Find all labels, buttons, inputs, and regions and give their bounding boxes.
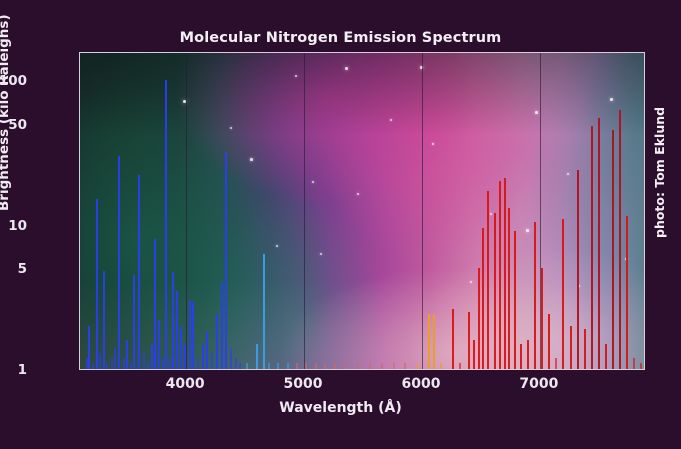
spectral-line	[562, 219, 564, 369]
spectral-line	[169, 358, 171, 369]
star	[250, 158, 253, 161]
spectral-line	[230, 348, 232, 369]
spectral-line	[416, 363, 418, 369]
gridline-x-5000	[304, 53, 305, 369]
star	[312, 181, 314, 183]
spectral-line	[452, 309, 454, 369]
spectral-line	[334, 363, 336, 369]
spectral-line	[296, 363, 298, 369]
spectral-line	[133, 275, 135, 369]
spectral-line	[96, 199, 98, 369]
spectral-line	[189, 300, 191, 369]
y-tick-70	[79, 105, 80, 107]
x-tick-5000	[304, 369, 306, 370]
star	[470, 281, 472, 283]
spectral-line	[151, 344, 153, 369]
y-tick-100	[79, 82, 80, 84]
spectral-line	[287, 363, 289, 369]
x-tick-6000	[422, 369, 424, 370]
y-tick-right-20	[644, 183, 645, 185]
spectral-line	[92, 363, 94, 369]
star	[230, 127, 232, 129]
spectral-line	[487, 191, 489, 369]
y-tick-3	[79, 302, 80, 304]
spectral-line	[393, 363, 395, 369]
spectral-line	[570, 326, 572, 369]
x-tick-label-5000: 5000	[284, 376, 323, 392]
spectral-line	[239, 363, 241, 369]
x-tick-label-7000: 7000	[519, 376, 558, 392]
y-tick-90	[79, 89, 80, 91]
spectral-line	[548, 314, 550, 369]
spectral-line	[158, 320, 160, 369]
y-tick-10	[79, 227, 80, 229]
y-tick-right-10	[644, 227, 645, 229]
y-tick-20	[79, 183, 80, 185]
spectral-line	[88, 326, 90, 369]
spectral-line	[473, 340, 475, 369]
star	[490, 213, 492, 215]
y-tick-right-100	[644, 82, 645, 84]
spectral-line	[345, 363, 347, 369]
y-tick-right-80	[644, 96, 645, 98]
y-tick-80	[79, 96, 80, 98]
spectral-line	[216, 314, 218, 369]
star	[610, 98, 613, 101]
spectral-line	[619, 110, 621, 369]
chart-screenshot: Molecular Nitrogen Emission Spectrum Bri…	[0, 0, 681, 449]
spectral-line	[381, 363, 383, 369]
spectral-line	[277, 363, 279, 369]
spectral-line	[162, 358, 164, 369]
x-tick-4000	[186, 369, 188, 370]
spectral-line	[206, 332, 208, 369]
y-tick-7	[79, 249, 80, 251]
photo-credit: photo: Tom Eklund	[652, 107, 667, 238]
x-tick-label-6000: 6000	[401, 376, 440, 392]
y-tick-right-6	[644, 259, 645, 261]
spectral-line	[154, 239, 156, 369]
x-tick-label-4000: 4000	[166, 376, 205, 392]
spectral-line	[172, 272, 174, 369]
y-tick-right-90	[644, 89, 645, 91]
spectral-line	[577, 170, 579, 369]
spectral-line	[221, 282, 223, 369]
spectral-line	[315, 363, 317, 369]
y-tick-right-60	[644, 114, 645, 116]
spectral-line	[192, 302, 194, 369]
star	[390, 119, 392, 121]
spectral-line	[612, 130, 614, 369]
y-tick-right-4	[644, 284, 645, 286]
y-tick-right-3	[644, 302, 645, 304]
y-tick-5	[79, 270, 80, 272]
spectral-line	[202, 344, 204, 369]
spectral-line	[263, 254, 265, 369]
y-tick-2	[79, 328, 80, 330]
spectral-line	[106, 363, 108, 369]
spectral-line	[357, 363, 359, 369]
y-tick-right-7	[644, 249, 645, 251]
spectral-line	[520, 344, 522, 369]
spectral-line	[305, 363, 307, 369]
y-tick-right-2	[644, 328, 645, 330]
y-tick-right-100	[644, 82, 645, 84]
y-tick-label-50: 50	[0, 117, 27, 133]
spectral-line	[176, 291, 178, 369]
spectral-line	[555, 358, 557, 369]
y-tick-label-100: 100	[0, 73, 27, 89]
x-tick-7000	[540, 369, 542, 370]
spectral-line	[103, 271, 105, 369]
star	[535, 111, 538, 114]
spectral-line	[184, 344, 186, 369]
spectral-line	[440, 363, 442, 369]
spectral-line	[605, 344, 607, 369]
y-tick-right-30	[644, 158, 645, 160]
spectral-line	[138, 175, 140, 369]
y-tick-9	[79, 233, 80, 235]
spectral-line	[324, 363, 326, 369]
spectral-line	[268, 363, 270, 369]
spectral-line	[147, 363, 149, 369]
y-tick-right-8	[644, 241, 645, 243]
spectral-line	[111, 358, 113, 369]
spectral-line	[433, 314, 435, 369]
plot-area	[79, 52, 645, 370]
spectral-line	[428, 314, 430, 369]
gridline-x-4000	[186, 53, 187, 369]
spectral-line	[235, 358, 237, 369]
spectral-line	[123, 358, 125, 369]
y-tick-label-5: 5	[0, 261, 27, 277]
y-tick-50	[79, 126, 80, 128]
y-tick-label-1: 1	[0, 362, 27, 378]
spectral-line	[508, 208, 510, 369]
spectral-line	[211, 353, 213, 369]
spectral-line	[197, 358, 199, 369]
y-tick-30	[79, 158, 80, 160]
spectral-line	[514, 231, 516, 369]
star	[320, 253, 322, 255]
y-axis-title: Brightness (kilo Raleighs)	[0, 14, 12, 211]
spectral-line	[118, 156, 120, 369]
spectral-line	[591, 126, 593, 369]
x-axis-title: Wavelength (Å)	[0, 400, 681, 416]
y-tick-right-40	[644, 140, 645, 142]
spectral-line	[598, 118, 600, 369]
spectral-line	[494, 213, 496, 369]
spectral-line	[404, 363, 406, 369]
spectral-line	[468, 312, 470, 369]
spectral-line	[482, 228, 484, 369]
spectral-line	[256, 344, 258, 369]
spectral-line	[499, 181, 501, 369]
spectral-line	[246, 363, 248, 369]
spectral-line	[130, 363, 132, 369]
spectral-line	[369, 363, 371, 369]
y-tick-right-9	[644, 233, 645, 235]
page-title: Molecular Nitrogen Emission Spectrum	[0, 30, 681, 46]
y-tick-6	[79, 259, 80, 261]
y-tick-right-50	[644, 126, 645, 128]
y-tick-60	[79, 114, 80, 116]
y-tick-right-5	[644, 270, 645, 272]
spectral-line	[626, 216, 628, 369]
y-tick-4	[79, 284, 80, 286]
spectral-line	[478, 268, 480, 369]
spectral-line	[143, 353, 145, 369]
spectral-line	[633, 358, 635, 369]
spectral-line	[165, 80, 167, 369]
spectral-line	[99, 353, 101, 369]
y-tick-40	[79, 140, 80, 142]
spectral-line	[126, 340, 128, 369]
y-tick-label-10: 10	[0, 218, 27, 234]
spectral-line	[225, 152, 227, 369]
spectral-line	[180, 326, 182, 369]
gridline-x-6000	[422, 53, 423, 369]
spectral-line	[534, 222, 536, 369]
spectral-line	[459, 363, 461, 369]
star	[526, 229, 529, 232]
y-tick-8	[79, 241, 80, 243]
spectral-line	[541, 268, 543, 369]
spectral-line	[527, 340, 529, 369]
spectral-line	[584, 329, 586, 369]
y-tick-right-70	[644, 105, 645, 107]
spectral-line	[640, 363, 642, 369]
spectral-line	[114, 348, 116, 369]
spectral-line	[504, 178, 506, 369]
